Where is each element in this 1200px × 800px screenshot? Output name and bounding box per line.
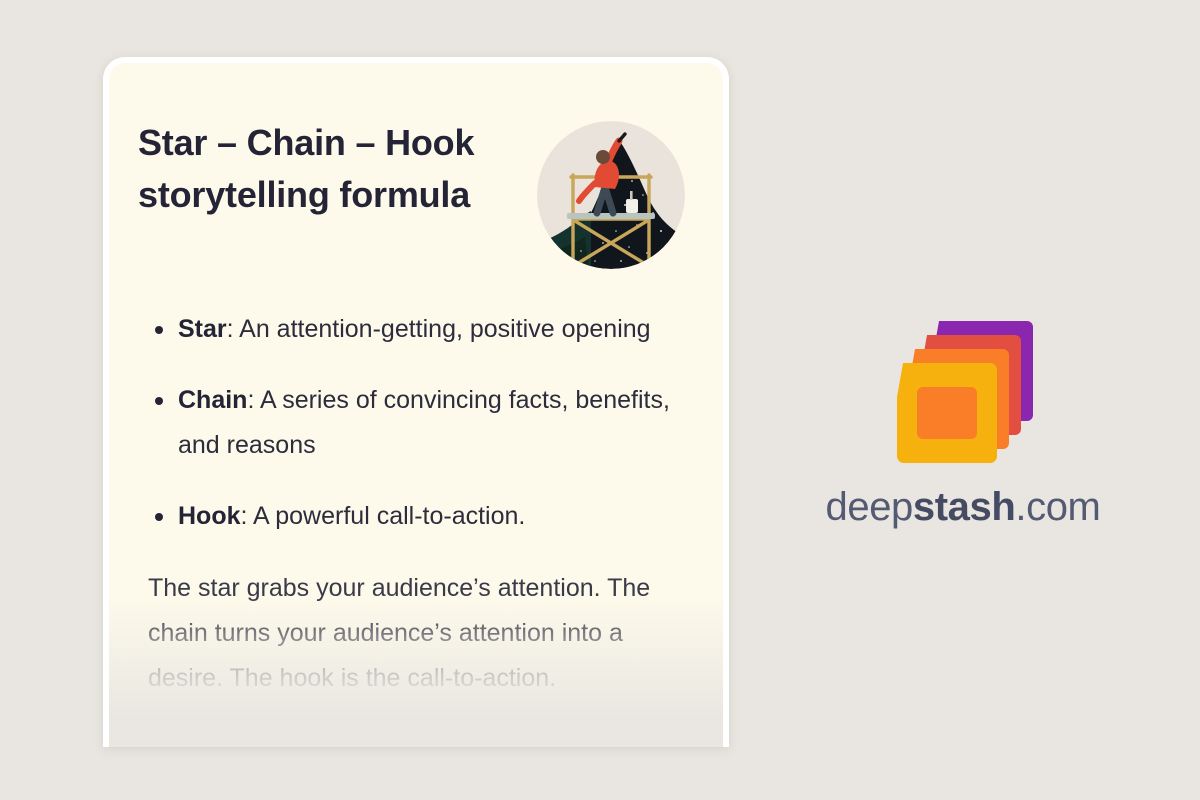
brand-wordmark: deepstash.com (813, 485, 1113, 530)
idea-card[interactable]: Star – Chain – Hook storytelling formula (103, 57, 729, 747)
brand-tld: .com (1015, 485, 1100, 529)
idea-card-header: Star – Chain – Hook storytelling formula (138, 117, 683, 269)
brand-name-light: deep (826, 485, 913, 529)
bullet-text: : A series of convincing facts, benefits… (178, 386, 670, 459)
bullet-term: Chain (178, 386, 247, 414)
idea-bullet-list: Star: An attention-getting, positive ope… (138, 307, 683, 539)
list-item: Chain: A series of convincing facts, ben… (138, 378, 683, 468)
bullet-dot-icon (155, 513, 163, 521)
idea-card-content: Star – Chain – Hook storytelling formula (109, 63, 723, 701)
list-item: Hook: A powerful call-to-action. (138, 494, 683, 539)
page-title: Star – Chain – Hook storytelling formula (138, 117, 523, 221)
idea-body-text: The star grabs your audience’s attention… (148, 566, 683, 701)
bullet-text: : An attention-getting, positive opening (227, 315, 651, 343)
bullet-term: Hook (178, 502, 241, 530)
bullet-term: Star (178, 315, 227, 343)
deepstash-logo-icon (887, 311, 1039, 463)
brand-name-bold: stash (913, 485, 1016, 529)
bullet-dot-icon (155, 397, 163, 405)
bullet-text: : A powerful call-to-action. (241, 502, 526, 530)
painter-on-scaffolding-icon (537, 121, 685, 269)
bullet-dot-icon (155, 326, 163, 334)
brand-block: deepstash.com (813, 311, 1113, 530)
list-item: Star: An attention-getting, positive ope… (138, 307, 683, 352)
